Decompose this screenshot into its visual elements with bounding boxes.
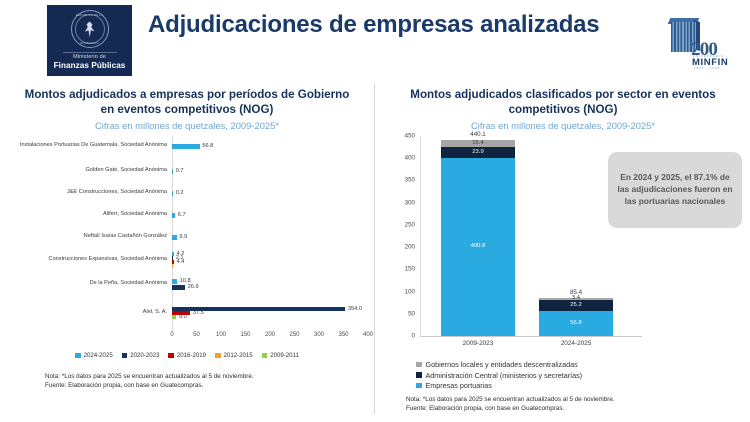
bar-segment xyxy=(172,144,200,149)
right-chart-panel: Montos adjudicados clasificados por sect… xyxy=(376,88,750,418)
right-chart-baseline xyxy=(420,336,642,337)
bar-group: 56.8 xyxy=(172,136,368,156)
legend-swatch-icon xyxy=(168,353,174,359)
right-chart-y-axis: 050100150200250300350400450 xyxy=(394,136,418,336)
legend-swatch-icon xyxy=(215,353,221,359)
bar-segment xyxy=(172,213,175,218)
bar-group: 0.2 xyxy=(172,183,368,203)
bar-segment xyxy=(172,279,177,284)
bar-category-label: Neftalí Isaías Castañón González xyxy=(0,233,172,241)
y-axis-tick: 300 xyxy=(405,199,415,206)
right-source: Fuente: Elaboración propia, con base en … xyxy=(406,404,615,413)
stack-total-label: 85.4 xyxy=(539,289,613,296)
legend-swatch-icon xyxy=(75,353,81,359)
bar-value-label: 0.7 xyxy=(176,168,184,174)
bar-category-label: De la Peña, Sociedad Anónima xyxy=(0,280,172,288)
legend-label: 2024-2025 xyxy=(84,352,113,359)
left-source: Fuente: Elaboración propia, con base en … xyxy=(45,381,254,390)
legend-item[interactable]: 2009-2011 xyxy=(262,352,299,359)
bar-category-row: Neftalí Isaías Castañón González9.9 xyxy=(0,227,374,247)
bar-value-label: 37.5 xyxy=(193,310,204,316)
bar-category-label: Golden Gate, Sociedad Anónima xyxy=(0,167,172,175)
bar-category-row: Aliferr, Sociedad Anónima6.7 xyxy=(0,205,374,225)
stack-segment: 400.8 xyxy=(441,158,515,336)
legend-item[interactable]: Administración Central (ministerios y se… xyxy=(416,371,716,380)
bar-value-label: 354.0 xyxy=(348,306,362,312)
bar-category-label: Instalaciones Portuarias De Guatemala, S… xyxy=(0,142,172,150)
minfin-brand-years: 1825 - 2025 xyxy=(694,66,720,70)
bar-category-row: J&E Construcciones, Sociedad Anónima0.2 xyxy=(0,183,374,203)
left-chart-legend: 2024-20252020-20232016-20192012-20152009… xyxy=(0,352,374,359)
bar-segment xyxy=(172,264,173,267)
y-axis-tick: 100 xyxy=(405,288,415,295)
right-chart-legend: Gobiernos locales y entidades descentral… xyxy=(416,360,716,392)
seal-top-text: REPUBLICA DE LA xyxy=(76,14,103,17)
stack-segment-value: 25.2 xyxy=(570,303,581,309)
x-axis-tick: 100 xyxy=(216,332,226,338)
bar-segment xyxy=(172,315,176,318)
ministry-logo: REPUBLICA DE LA GUATEMALA Ministerio de … xyxy=(47,5,132,76)
legend-swatch-icon xyxy=(416,362,422,368)
legend-item[interactable]: 2016-2019 xyxy=(168,352,206,359)
y-axis-tick: 150 xyxy=(405,266,415,273)
bar-group: 6.7 xyxy=(172,205,368,225)
x-axis-tick: 150 xyxy=(240,332,250,338)
y-axis-tick: 250 xyxy=(405,221,415,228)
stack-segment-value: 15.4 xyxy=(472,141,483,147)
legend-label: 2009-2011 xyxy=(270,352,299,359)
bar-value-label: 0.2 xyxy=(176,190,184,196)
right-chart-notes: Nota: *Los datos para 2025 se encuentran… xyxy=(406,395,615,414)
left-chart-subtitle: Cifras en millones de quetzales, 2009-20… xyxy=(0,120,374,131)
stack-segment-value: 400.8 xyxy=(471,244,486,250)
slide-header: REPUBLICA DE LA GUATEMALA Ministerio de … xyxy=(0,0,750,80)
legend-item[interactable]: 2024-2025 xyxy=(75,352,113,359)
x-axis-tick: 350 xyxy=(338,332,348,338)
x-axis-tick: 400 xyxy=(363,332,373,338)
bar-value-label: 4.4 xyxy=(177,259,185,265)
page-title: Adjudicaciones de empresas analizadas xyxy=(148,10,628,39)
bar-group: 354.037.59.0 xyxy=(172,298,368,328)
bar-value-label: 9.9 xyxy=(179,234,187,240)
bar-group: 10.826.9 xyxy=(172,274,368,294)
stacked-bar: 15.423.9400.8440.1 xyxy=(441,140,515,336)
y-axis-tick: 200 xyxy=(405,244,415,251)
legend-label: 2016-2019 xyxy=(177,352,206,359)
bar-category-row: Alel, S. A.354.037.59.0 xyxy=(0,298,374,328)
x-axis-tick: 300 xyxy=(314,332,324,338)
stack-segment-value: 23.9 xyxy=(472,150,483,156)
left-chart-title: Montos adjudicados a empresas por períod… xyxy=(22,88,352,118)
legend-swatch-icon xyxy=(416,383,422,389)
quetzal-emblem-icon xyxy=(83,21,96,37)
panel-divider xyxy=(374,84,375,414)
legend-swatch-icon xyxy=(262,353,268,359)
left-chart-notes: Nota: *Los datos para 2025 se encuentran… xyxy=(45,372,254,391)
y-axis-tick: 350 xyxy=(405,177,415,184)
bar-segment xyxy=(172,256,173,259)
bar-category-label: Construcciones Expansivas, Sociedad Anón… xyxy=(0,256,172,264)
highlight-callout: En 2024 y 2025, el 87.1% de las adjudica… xyxy=(608,152,742,228)
left-chart-x-axis: 050100150200250300350400 xyxy=(172,332,368,344)
stacked-bar-chart: 050100150200250300350400450 15.423.9400.… xyxy=(394,136,644,358)
logo-divider xyxy=(63,52,117,53)
bar-segment xyxy=(172,235,177,240)
x-axis-category-label: 2024-2025 xyxy=(521,340,631,347)
y-axis-tick: 450 xyxy=(405,133,415,140)
stacked-bar: 3.425.256.885.4 xyxy=(539,298,613,336)
bar-value-label: 56.8 xyxy=(202,143,213,149)
legend-label: Gobiernos locales y entidades descentral… xyxy=(426,360,578,369)
stack-segment-value: 56.8 xyxy=(570,321,581,327)
bar-category-row: De la Peña, Sociedad Anónima10.826.9 xyxy=(0,274,374,294)
ministry-name-line2: Finanzas Públicas xyxy=(54,61,126,70)
stack-segment: 56.8 xyxy=(539,311,613,336)
y-axis-tick: 400 xyxy=(405,155,415,162)
bar-group: 4.22.14.4 xyxy=(172,249,368,271)
stack-segment: 25.2 xyxy=(539,300,613,311)
grouped-bar-chart: 050100150200250300350400 Instalaciones P… xyxy=(0,136,374,338)
stack-segment: 23.9 xyxy=(441,147,515,158)
legend-swatch-icon xyxy=(416,372,422,378)
seal-bottom-text: GUATEMALA xyxy=(80,42,99,45)
bar-segment xyxy=(172,285,185,290)
y-axis-tick: 50 xyxy=(408,310,415,317)
legend-item[interactable]: 2020-2023 xyxy=(122,352,160,359)
bar-value-label: 26.9 xyxy=(188,284,199,290)
bar-category-label: J&E Construcciones, Sociedad Anónima xyxy=(0,189,172,197)
bar-segment xyxy=(172,191,173,196)
right-chart-subtitle: Cifras en millones de quetzales, 2009-20… xyxy=(376,120,750,131)
bar-category-label: Alel, S. A. xyxy=(0,309,172,317)
legend-label: Empresas portuarias xyxy=(426,381,492,390)
x-axis-category-label: 2009-2023 xyxy=(423,340,533,347)
bar-group: 0.7 xyxy=(172,161,368,181)
bar-value-label: 9.0 xyxy=(179,314,187,320)
x-axis-tick: 200 xyxy=(265,332,275,338)
left-chart-panel: Montos adjudicados a empresas por períod… xyxy=(0,88,374,418)
bar-segment xyxy=(172,169,173,174)
bar-segment xyxy=(172,252,174,255)
legend-item[interactable]: Empresas portuarias xyxy=(416,381,716,390)
legend-item[interactable]: 2012-2015 xyxy=(215,352,253,359)
minfin-200-logo: 200 ANIVERSARIO MINFIN 1825 - 2025 xyxy=(663,18,737,66)
callout-text: En 2024 y 2025, el 87.1% de las adjudica… xyxy=(616,172,734,207)
bar-group: 9.9 xyxy=(172,227,368,247)
left-note: Nota: *Los datos para 2025 se encuentran… xyxy=(45,372,254,381)
stack-segment: 15.4 xyxy=(441,140,515,147)
right-chart-plot-area: 15.423.9400.8440.12009-20233.425.256.885… xyxy=(420,136,635,336)
x-axis-tick: 50 xyxy=(193,332,200,338)
right-chart-title: Montos adjudicados clasificados por sect… xyxy=(403,88,723,118)
guatemala-seal-icon: REPUBLICA DE LA GUATEMALA xyxy=(71,10,109,48)
bar-category-row: Instalaciones Portuarias De Guatemala, S… xyxy=(0,136,374,156)
bar-category-row: Golden Gate, Sociedad Anónima0.7 xyxy=(0,161,374,181)
bar-segment xyxy=(172,260,174,263)
bar-value-label: 6.7 xyxy=(178,212,186,218)
bar-category-label: Aliferr, Sociedad Anónima xyxy=(0,211,172,219)
right-note: Nota: *Los datos para 2025 se encuentran… xyxy=(406,395,615,404)
x-axis-tick: 0 xyxy=(170,332,173,338)
stack-total-label: 440.1 xyxy=(441,131,515,138)
slide-root: REPUBLICA DE LA GUATEMALA Ministerio de … xyxy=(0,0,750,422)
legend-label: 2020-2023 xyxy=(130,352,159,359)
legend-item[interactable]: Gobiernos locales y entidades descentral… xyxy=(416,360,716,369)
legend-label: Administración Central (ministerios y se… xyxy=(426,371,583,380)
legend-swatch-icon xyxy=(122,353,128,359)
y-axis-tick: 0 xyxy=(412,333,415,340)
x-axis-tick: 250 xyxy=(289,332,299,338)
legend-label: 2012-2015 xyxy=(224,352,253,359)
bar-category-row: Construcciones Expansivas, Sociedad Anón… xyxy=(0,249,374,271)
